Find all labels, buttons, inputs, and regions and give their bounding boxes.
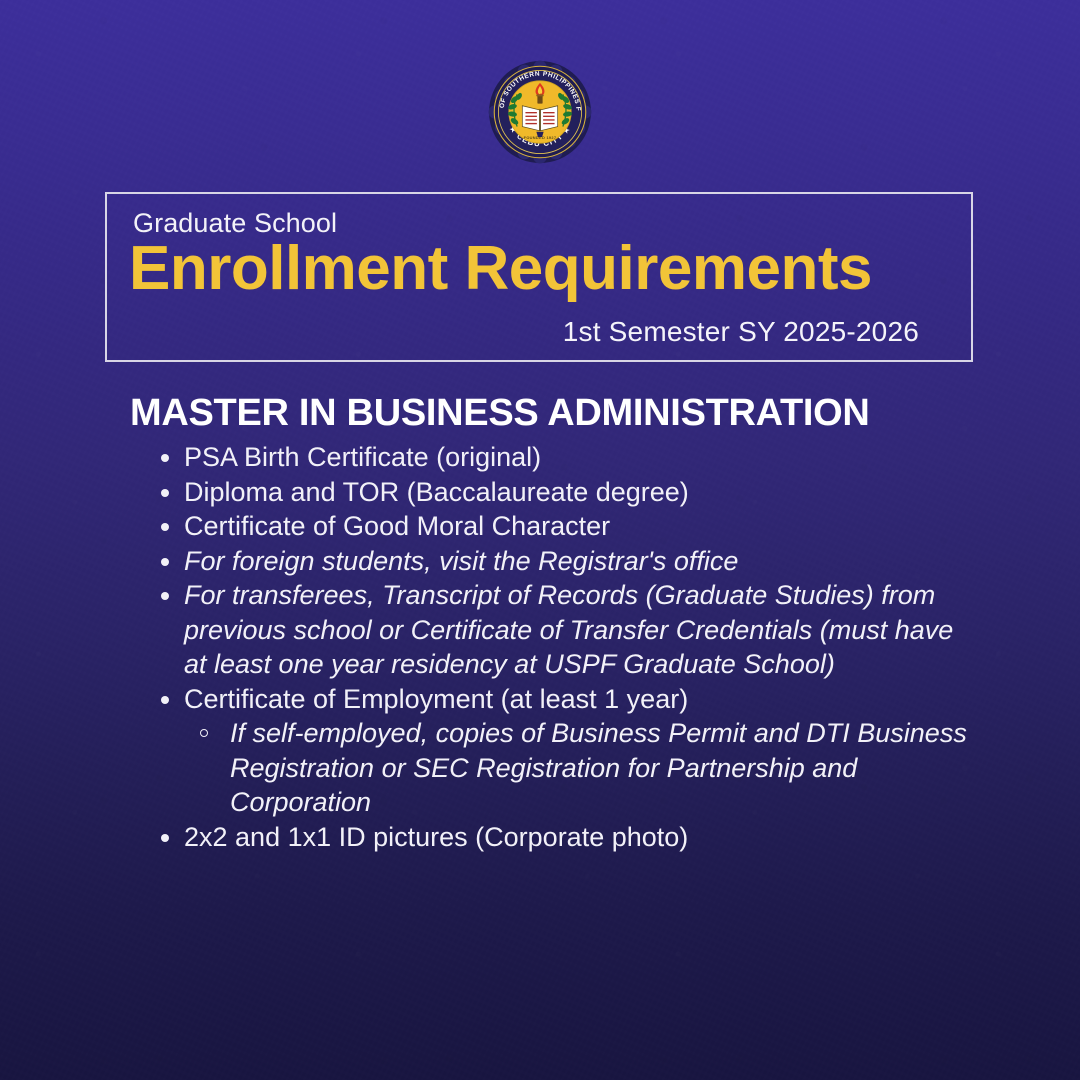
requirement-text: 2x2 and 1x1 ID pictures (Corporate photo… bbox=[184, 820, 982, 855]
requirement-text: Certificate of Employment (at least 1 ye… bbox=[184, 682, 982, 717]
header-box: Graduate School Enrollment Requirements … bbox=[105, 192, 973, 362]
requirements-list: PSA Birth Certificate (original)Diploma … bbox=[152, 440, 982, 854]
page-title: Enrollment Requirements bbox=[129, 236, 872, 301]
bullet-icon bbox=[161, 489, 169, 497]
requirement-item: Certificate of Good Moral Character bbox=[152, 509, 982, 544]
requirement-subtext: If self-employed, copies of Business Per… bbox=[230, 718, 967, 817]
requirement-text: Certificate of Good Moral Character bbox=[184, 509, 982, 544]
requirement-item: PSA Birth Certificate (original) bbox=[152, 440, 982, 475]
requirement-item: 2x2 and 1x1 ID pictures (Corporate photo… bbox=[152, 820, 982, 855]
requirement-item: For foreign students, visit the Registra… bbox=[152, 544, 982, 579]
enrollment-requirements-poster: UNIVERSITY OF SOUTHERN PHILIPPINES FOUND… bbox=[0, 0, 1080, 1080]
uspf-seal-logo: UNIVERSITY OF SOUTHERN PHILIPPINES FOUND… bbox=[488, 60, 592, 164]
bullet-icon bbox=[161, 523, 169, 531]
bullet-icon bbox=[161, 454, 169, 462]
bullet-icon bbox=[161, 834, 169, 842]
requirement-item: Diploma and TOR (Baccalaureate degree) bbox=[152, 475, 982, 510]
requirement-sublist: If self-employed, copies of Business Per… bbox=[184, 716, 982, 820]
bullet-icon bbox=[161, 696, 169, 704]
bullet-icon bbox=[161, 592, 169, 600]
requirement-item: Certificate of Employment (at least 1 ye… bbox=[152, 682, 982, 820]
bullet-icon bbox=[161, 558, 169, 566]
hollow-bullet-icon bbox=[200, 729, 208, 737]
requirement-text: For transferees, Transcript of Records (… bbox=[184, 578, 982, 682]
requirement-text: Diploma and TOR (Baccalaureate degree) bbox=[184, 475, 982, 510]
requirement-text: For foreign students, visit the Registra… bbox=[184, 544, 982, 579]
program-title: MASTER IN BUSINESS ADMINISTRATION bbox=[130, 392, 870, 435]
requirement-subitem: If self-employed, copies of Business Per… bbox=[184, 716, 982, 820]
requirement-text: PSA Birth Certificate (original) bbox=[184, 440, 982, 475]
semester-label: 1st Semester SY 2025-2026 bbox=[563, 316, 919, 348]
requirement-item: For transferees, Transcript of Records (… bbox=[152, 578, 982, 682]
